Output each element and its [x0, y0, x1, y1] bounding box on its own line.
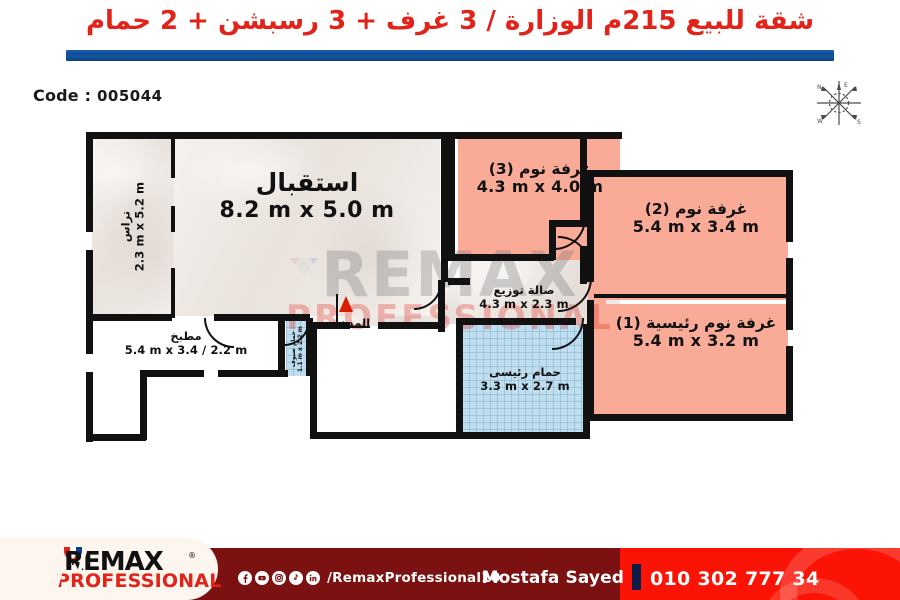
wall	[86, 250, 93, 320]
remax-logo: REMAX ® PROFESSIONAL	[40, 549, 212, 593]
wall	[587, 300, 594, 420]
room-fill-entry	[310, 326, 440, 438]
wall	[456, 318, 463, 438]
entrance-label: المدخل	[329, 316, 370, 330]
youtube-icon[interactable]	[255, 571, 269, 585]
tiktok-icon[interactable]	[289, 571, 303, 585]
wall	[86, 372, 93, 442]
room-label-guest-bath: حمام ضيوف 1.1 m x 2.2 m	[290, 320, 304, 378]
logo-sub: PROFESSIONAL	[56, 572, 222, 591]
wall	[448, 254, 554, 261]
svg-text:N: N	[817, 84, 822, 91]
wall	[86, 314, 172, 321]
room-label-reception: استقبال 8.2 m x 5.0 m	[180, 168, 434, 223]
room-label-master: غرفة نوم رئيسية (1) 5.4 m x 3.2 m	[604, 314, 788, 351]
wall	[140, 370, 204, 377]
room-label-bedroom3: غرفة نوم (3) 4.3 m x 4.0 m	[460, 160, 620, 197]
wall	[310, 432, 466, 439]
wall	[140, 370, 147, 440]
wall	[786, 170, 793, 242]
wall	[310, 322, 317, 438]
wall	[448, 132, 622, 139]
footer: REMAX ® PROFESSIONAL /RemaxProfessional1…	[0, 538, 900, 600]
wall	[86, 318, 93, 354]
wall	[786, 346, 793, 421]
wall	[218, 370, 288, 377]
wall	[441, 132, 448, 282]
facebook-icon[interactable]	[238, 571, 252, 585]
room-label-hall: صالة توزيع 4.3 m x 2.3 m	[468, 284, 580, 311]
code-line: Code : 005044	[33, 86, 163, 105]
agent-phone[interactable]: 010 302 777 34	[650, 568, 819, 590]
linkedin-icon[interactable]	[306, 571, 320, 585]
room-fill-reception	[174, 136, 440, 316]
svg-text:E: E	[844, 82, 848, 89]
wall	[378, 322, 444, 329]
wall	[171, 206, 175, 232]
wall	[86, 132, 93, 232]
room-label-main-bath: حمام رئيسى 3.3 m x 2.7 m	[466, 366, 584, 393]
wall	[587, 414, 793, 421]
wall	[171, 268, 175, 318]
code-value: 005044	[97, 87, 163, 105]
page-title: شقة للبيع 215م الوزارة / 3 غرف + 3 رسبشن…	[0, 6, 900, 36]
room-label-terrace: تراس 2.3 m x 5.2 m	[119, 182, 146, 272]
entrance-arrow-icon	[339, 296, 353, 312]
room-fill-bedroom2	[604, 176, 788, 300]
wall	[86, 434, 146, 441]
code-label: Code :	[33, 86, 91, 105]
header-divider	[66, 50, 834, 61]
room-label-bedroom2: غرفة نوم (2) 5.4 m x 3.4 m	[606, 200, 786, 237]
floor-plan: REMAX PROFESSIONAL	[0, 118, 900, 518]
wall	[171, 136, 175, 178]
room-fill-kitchen-leg	[92, 374, 144, 438]
footer-separator	[632, 564, 641, 590]
wall	[594, 294, 786, 298]
wall	[86, 132, 448, 139]
header: شقة للبيع 215م الوزارة / 3 غرف + 3 رسبشن…	[0, 0, 900, 68]
wall	[448, 132, 455, 260]
wall	[456, 432, 590, 439]
agent-name: Mostafa Sayed	[408, 568, 624, 588]
instagram-icon[interactable]	[272, 571, 286, 585]
room-label-kitchen: مطبخ 5.4 m x 3.4 / 2.2 m	[98, 330, 274, 357]
wall	[448, 278, 470, 285]
logo-registered-mark: ®	[188, 551, 196, 560]
